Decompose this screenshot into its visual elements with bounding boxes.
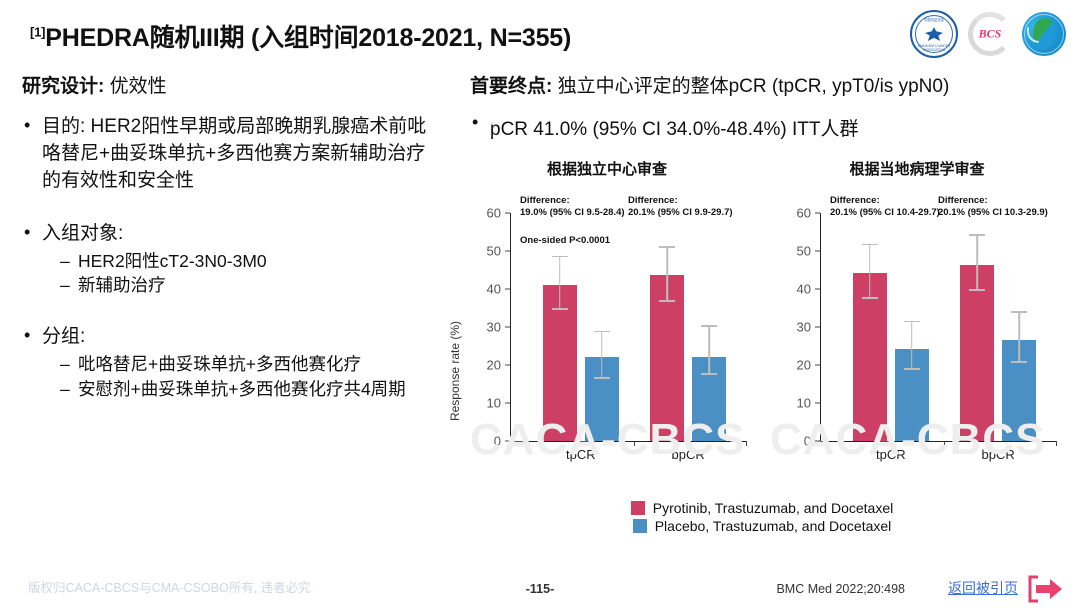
error-bar [911, 322, 913, 369]
logo-group: 中国抗癌协会CHINA ANTI-CANCER ASSOCIATION BCS [910, 10, 1066, 58]
y-axis-tick [505, 365, 510, 366]
list-item: HER2阳性cT2-3N0-3M0 [60, 249, 442, 274]
error-bar-cap [862, 297, 878, 299]
legend-swatch-placebo [633, 519, 647, 533]
sub-list: 吡咯替尼+曲妥珠单抗+多西他赛化疗 安慰剂+曲妥珠单抗+多西他赛化疗共4周期 [42, 352, 442, 402]
legend-item: Pyrotinib, Trastuzumab, and Docetaxel [631, 500, 893, 516]
right-column: 首要终点: 独立中心评定的整体pCR (tpCR, ypT0/is ypN0) … [470, 74, 1070, 141]
list-item: 吡咯替尼+曲妥珠单抗+多西他赛化疗 [60, 352, 442, 377]
error-bar [559, 257, 561, 310]
error-bar-cap [659, 300, 675, 302]
y-axis-tick [505, 251, 510, 252]
x-axis [820, 441, 1056, 442]
bar [853, 213, 887, 441]
slide: 中国抗癌协会CHINA ANTI-CANCER ASSOCIATION BCS … [0, 0, 1080, 610]
footer-reference: BMC Med 2022;20:498 [776, 582, 905, 596]
y-axis-tick [815, 403, 820, 404]
title-text: PHEDRA随机III期 (入组时间2018-2021, N=355) [45, 24, 571, 52]
bar [585, 213, 619, 441]
error-bar-cap [594, 331, 610, 333]
error-bar [601, 332, 603, 378]
bar [1002, 213, 1036, 441]
sub-list: HER2阳性cT2-3N0-3M0 新辅助治疗 [42, 249, 442, 299]
x-axis-tick-label: tpCR [876, 447, 906, 462]
y-axis-tick [815, 365, 820, 366]
error-bar [869, 245, 871, 298]
legend-label: Pyrotinib, Trastuzumab, and Docetaxel [653, 500, 893, 516]
arrow-right-icon[interactable] [1024, 574, 1064, 604]
x-axis-tick [634, 441, 635, 446]
y-axis-tick [505, 289, 510, 290]
difference-annotation: Difference:20.1% (95% CI 9.9-29.7) [628, 195, 733, 219]
list-item: 分组: 吡咯替尼+曲妥珠单抗+多西他赛化疗 安慰剂+曲妥珠单抗+多西他赛化疗共4… [22, 324, 442, 402]
legend-label: Placebo, Trastuzumab, and Docetaxel [655, 518, 892, 534]
y-axis-tick [815, 251, 820, 252]
bar [543, 213, 577, 441]
left-column: 研究设计: 优效性 目的: HER2阳性早期或局部晚期乳腺癌术前吡咯替尼+曲妥珠… [22, 74, 442, 406]
bullet-text: 分组: [42, 326, 85, 347]
bar-fill [960, 265, 994, 441]
x-axis-tick [820, 441, 821, 446]
x-axis-tick [1056, 441, 1057, 446]
chart-panel-left: Response rate (%)0102030405060tpCRbpCRDi… [452, 189, 762, 479]
error-bar-cap [552, 308, 568, 310]
bullet-text: 入组对象: [42, 223, 123, 244]
error-bar-cap [594, 377, 610, 379]
x-axis [510, 441, 746, 442]
title-superscript: [1] [30, 25, 45, 40]
difference-annotation: Difference:20.1% (95% CI 10.4-29.7) [830, 195, 940, 219]
bar [960, 213, 994, 441]
list-item: 安慰剂+曲妥珠单抗+多西他赛化疗共4周期 [60, 377, 442, 402]
result-bullet: pCR 41.0% (95% CI 34.0%-48.4%) ITT人群 [470, 114, 1070, 141]
error-bar-cap [701, 325, 717, 327]
endpoint-line: 首要终点: 独立中心评定的整体pCR (tpCR, ypT0/is ypN0) [470, 74, 1070, 100]
endpoint-value: 独立中心评定的整体pCR (tpCR, ypT0/is ypN0) [558, 76, 950, 97]
x-axis-tick-label: tpCR [566, 447, 596, 462]
y-axis-tick [815, 213, 820, 214]
chart-title-left: 根据独立中心审查 [452, 158, 762, 179]
x-axis-tick-label: bpCR [672, 447, 705, 462]
difference-annotation: Difference:19.0% (95% CI 9.5-28.4) [520, 195, 625, 219]
chart-titles: 根据独立中心审查 根据当地病理学审查 [452, 158, 1072, 179]
y-axis-tick [505, 213, 510, 214]
error-bar-cap [1011, 361, 1027, 363]
error-bar-cap [969, 289, 985, 291]
y-axis [510, 213, 511, 441]
list-item: 新辅助治疗 [60, 273, 442, 298]
error-bar-cap [701, 373, 717, 375]
bcs-logo: BCS [968, 12, 1012, 56]
legend-item: Placebo, Trastuzumab, and Docetaxel [633, 518, 892, 534]
x-axis-tick [944, 441, 945, 446]
error-bar [1018, 313, 1020, 363]
error-bar-cap [904, 368, 920, 370]
y-axis-tick [815, 327, 820, 328]
error-bar [976, 236, 978, 291]
left-bullet-list: 目的: HER2阳性早期或局部晚期乳腺癌术前吡咯替尼+曲妥珠单抗+多西他赛方案新… [22, 114, 442, 402]
error-bar-cap [1011, 311, 1027, 313]
x-axis-tick [746, 441, 747, 446]
y-axis-tick [505, 327, 510, 328]
endpoint-label: 首要终点: [470, 76, 552, 97]
study-design-label: 研究设计: [22, 76, 104, 97]
page-title: [1]PHEDRA随机III期 (入组时间2018-2021, N=355) [30, 18, 571, 54]
x-axis-tick-label: bpCR [982, 447, 1015, 462]
chart-panel-right: 0102030405060tpCRbpCRDifference:20.1% (9… [762, 189, 1072, 479]
list-item: 入组对象: HER2阳性cT2-3N0-3M0 新辅助治疗 [22, 221, 442, 299]
error-bar [666, 248, 668, 302]
legend-swatch-pyrotinib [631, 501, 645, 515]
bar [650, 213, 684, 441]
chart-panels: Response rate (%)0102030405060tpCRbpCRDi… [452, 189, 1072, 479]
y-axis-tick [505, 403, 510, 404]
caca-logo: 中国抗癌协会CHINA ANTI-CANCER ASSOCIATION [910, 10, 958, 58]
bar [692, 213, 726, 441]
bullet-text: 目的: HER2阳性早期或局部晚期乳腺癌术前吡咯替尼+曲妥珠单抗+多西他赛方案新… [42, 116, 426, 191]
csobo-logo [1022, 12, 1066, 56]
error-bar-cap [552, 256, 568, 258]
study-design-value: 优效性 [110, 76, 167, 97]
p-value-annotation: One-sided P<0.0001 [520, 235, 610, 246]
y-axis-label: Response rate (%) [448, 301, 462, 441]
list-item: 目的: HER2阳性早期或局部晚期乳腺癌术前吡咯替尼+曲妥珠单抗+多西他赛方案新… [22, 114, 442, 195]
charts-container: 根据独立中心审查 根据当地病理学审查 Response rate (%)0102… [452, 158, 1072, 503]
y-axis-tick [815, 289, 820, 290]
page-number: -115- [0, 582, 1080, 596]
x-axis-tick [510, 441, 511, 446]
difference-annotation: Difference:20.1% (95% CI 10.3-29.9) [938, 195, 1048, 219]
error-bar [708, 327, 710, 375]
bar [895, 213, 929, 441]
error-bar-cap [659, 246, 675, 248]
error-bar-cap [969, 234, 985, 236]
chart-title-right: 根据当地病理学审查 [762, 158, 1072, 179]
study-design-line: 研究设计: 优效性 [22, 74, 442, 100]
chart-legend: Pyrotinib, Trastuzumab, and Docetaxel Pl… [452, 500, 1072, 534]
error-bar-cap [862, 244, 878, 246]
back-to-citation-link[interactable]: 返回被引页 [948, 578, 1018, 598]
error-bar-cap [904, 321, 920, 323]
y-axis [820, 213, 821, 441]
